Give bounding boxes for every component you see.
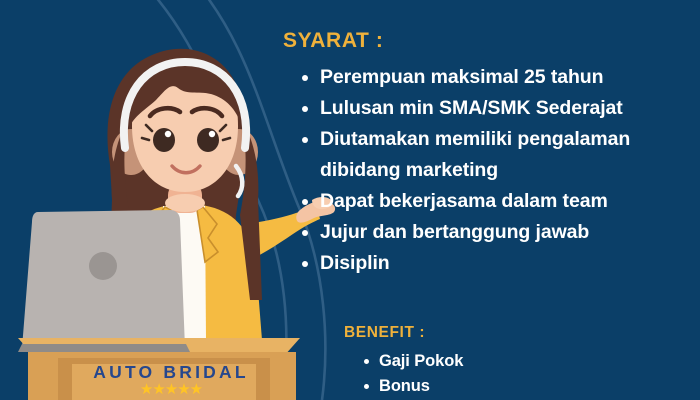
benefit-heading: BENEFIT : (344, 325, 684, 341)
eye-left (153, 128, 175, 152)
requirement-text: Disiplin (320, 252, 390, 274)
job-vacancy-poster: AUTO BRIDAL ★★★★★ SYARAT : Perempuan mak… (0, 0, 700, 400)
eye-right-glint (209, 131, 215, 137)
eye-right (197, 128, 219, 152)
benefit-list: Gaji Pokok Bonus (344, 349, 684, 399)
requirement-text: Perempuan maksimal 25 tahun (320, 66, 603, 88)
list-item: Bonus (362, 374, 684, 399)
benefit-text: Gaji Pokok (379, 352, 463, 370)
list-item: Jujur dan bertanggung jawab (301, 217, 693, 248)
desk-rating-stars: ★★★★★ (66, 382, 276, 397)
list-item: Perempuan maksimal 25 tahun (301, 62, 693, 93)
list-item: Dapat bekerjasama dalam team (301, 186, 693, 217)
benefit-section: BENEFIT : Gaji Pokok Bonus (344, 325, 684, 399)
requirements-list: Perempuan maksimal 25 tahun Lulusan min … (283, 62, 693, 279)
requirement-text: dibidang marketing (320, 159, 498, 181)
requirements-heading: SYARAT : (283, 30, 693, 51)
laptop-logo-icon (89, 252, 117, 280)
list-item: Lulusan min SMA/SMK Sederajat (301, 93, 693, 124)
requirement-text: Dapat bekerjasama dalam team (320, 190, 608, 212)
requirements-section: SYARAT : Perempuan maksimal 25 tahun Lul… (283, 30, 693, 279)
list-item: Gaji Pokok (362, 349, 684, 374)
list-item-continuation: dibidang marketing (301, 155, 693, 186)
list-item: Disiplin (301, 248, 693, 279)
eye-left-glint (165, 131, 171, 137)
collar-skin (165, 194, 205, 212)
requirement-text: Lulusan min SMA/SMK Sederajat (320, 97, 623, 119)
desk-brand-label: AUTO BRIDAL (66, 362, 276, 383)
requirement-text: Jujur dan bertanggung jawab (320, 221, 589, 243)
laptop-base (18, 344, 190, 352)
benefit-text: Bonus (379, 377, 430, 395)
requirement-text: Diutamakan memiliki pengalaman (320, 128, 630, 150)
list-item: Diutamakan memiliki pengalaman (301, 124, 693, 155)
